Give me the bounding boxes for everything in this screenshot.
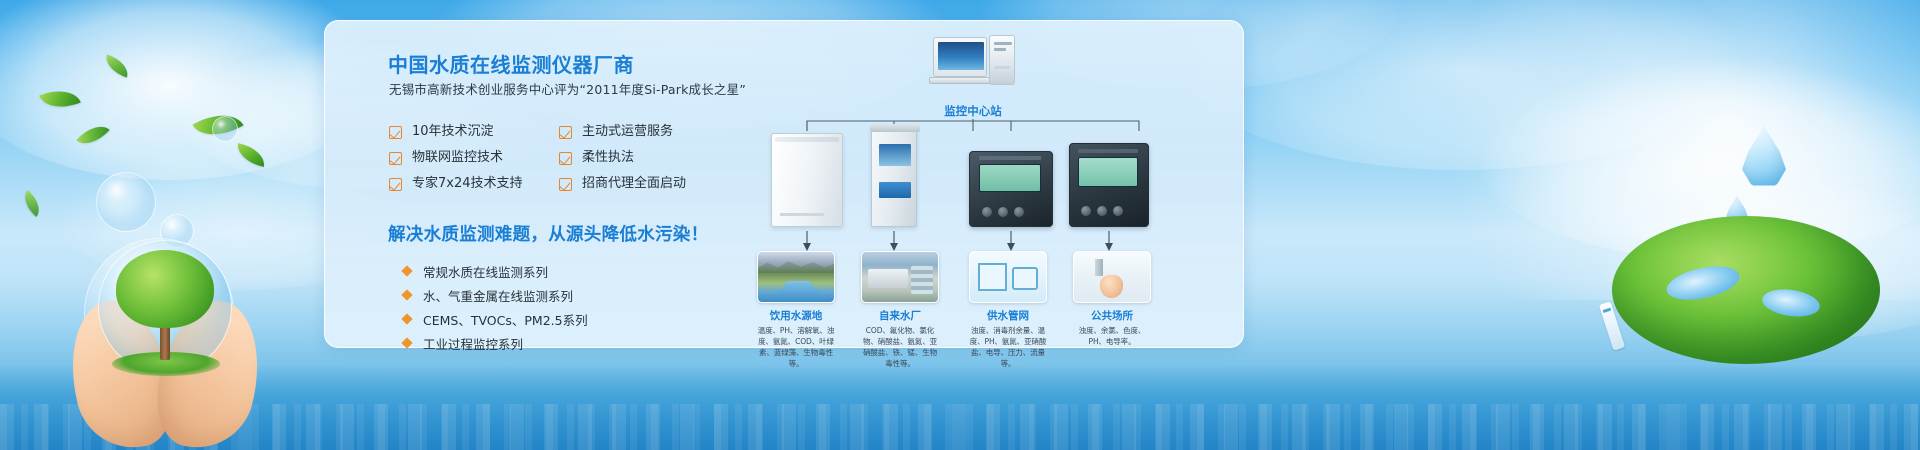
water-surface <box>0 364 1920 450</box>
list-item[interactable]: 常规水质在线监测系列 <box>403 259 588 283</box>
scene-parameters: COD、氟化物、氯化物、硝酸盐、氨氮、亚硝酸盐、铁、锰、生物毒性等。 <box>861 326 939 370</box>
scene-caption: 自来水厂 <box>861 308 939 323</box>
page-subtitle: 无锡市高新技术创业服务中心评为“2011年度Si-Park成长之星” <box>389 79 746 98</box>
list-item-label: 常规水质在线监测系列 <box>423 262 548 281</box>
scene-photo-reservoir <box>757 251 835 303</box>
feature-label: 10年技术沉淀 <box>412 119 494 145</box>
checkbox-checked-icon <box>389 152 402 165</box>
checkbox-checked-icon <box>559 178 572 191</box>
diamond-bullet-icon <box>401 337 412 348</box>
keyboard-icon <box>929 77 991 84</box>
checkbox-checked-icon <box>559 152 572 165</box>
list-item-label: 水、气重金属在线监测系列 <box>423 286 573 305</box>
list-item-label: CEMS、TVOCs、PM2.5系列 <box>423 310 588 329</box>
checkbox-checked-icon <box>389 178 402 191</box>
scene-caption: 供水管网 <box>969 308 1047 323</box>
tree-canopy <box>116 250 214 328</box>
scene-photo-waterworks <box>861 251 939 303</box>
list-item-label: 工业过程监控系列 <box>423 334 523 353</box>
scene-card[interactable]: 公共场所 浊度、余氯、色度、PH、电导率。 <box>1073 251 1151 348</box>
scene-parameters: 浊度、消毒剂余量、温度、PH、氨氮、亚硝酸盐、电导、压力、流量等。 <box>969 326 1047 370</box>
cabinet-analyzer-device <box>771 133 843 227</box>
pc-tower-icon <box>989 35 1015 85</box>
grass-globe <box>1612 216 1880 364</box>
scene-caption: 饮用水源地 <box>757 308 835 323</box>
cloud-1 <box>0 0 380 180</box>
monitor-screen <box>938 42 984 70</box>
checkbox-checked-icon <box>389 126 402 139</box>
list-item[interactable]: 工业过程监控系列 <box>403 331 588 355</box>
bubble-decoration <box>212 116 238 142</box>
scene-caption: 公共场所 <box>1073 308 1151 323</box>
scene-photo-public-place <box>1073 251 1151 303</box>
scene-card[interactable]: 供水管网 浊度、消毒剂余量、温度、PH、氨氮、亚硝酸盐、电导、压力、流量等。 <box>969 251 1047 370</box>
monitoring-center-computer-icon <box>933 35 1017 89</box>
water-droplet-icon <box>1742 126 1786 188</box>
feature-label: 物联网监控技术 <box>412 145 503 171</box>
feature-label: 主动式运营服务 <box>582 119 673 145</box>
diamond-bullet-icon <box>401 289 412 300</box>
bubble-decoration <box>96 172 156 232</box>
controller-device-2 <box>1069 143 1149 227</box>
page-title: 中国水质在线监测仪器厂商 <box>388 49 634 78</box>
checkbox-checked-icon <box>559 126 572 139</box>
controller-device-1 <box>969 151 1053 227</box>
leaf-icon <box>102 54 132 77</box>
hero-panel: 中国水质在线监测仪器厂商 无锡市高新技术创业服务中心评为“2011年度Si-Pa… <box>324 20 1244 348</box>
system-architecture-diagram: 监控中心站 <box>757 35 1227 345</box>
scene-card[interactable]: 饮用水源地 温度、PH、溶解氧、浊度、氨氮、COD、叶绿素、蓝绿藻、生物毒性等。 <box>757 251 835 370</box>
product-series-list: 常规水质在线监测系列 水、气重金属在线监测系列 CEMS、TVOCs、PM2.5… <box>403 259 588 355</box>
monitor-icon <box>933 37 987 77</box>
section-subheading: 解决水质监测难题，从源头降低水污染！ <box>388 221 708 246</box>
diamond-bullet-icon <box>401 265 412 276</box>
feature-label: 柔性执法 <box>582 145 634 171</box>
cloud-4 <box>1180 0 1740 170</box>
leaf-icon <box>18 190 46 217</box>
leaf-icon <box>234 143 267 167</box>
feature-label: 专家7x24技术支持 <box>412 171 523 197</box>
list-item[interactable]: 水、气重金属在线监测系列 <box>403 283 588 307</box>
diamond-bullet-icon <box>401 313 412 324</box>
green-earth-illustration <box>1612 216 1880 376</box>
monitoring-center-label: 监控中心站 <box>893 103 1053 119</box>
scene-card[interactable]: 自来水厂 COD、氟化物、氯化物、硝酸盐、氨氮、亚硝酸盐、铁、锰、生物毒性等。 <box>861 251 939 370</box>
scene-parameters: 浊度、余氯、色度、PH、电导率。 <box>1073 326 1151 348</box>
hands-holding-tree-illustration <box>72 236 258 450</box>
leaf-icon <box>39 82 81 116</box>
rack-analyzer-device <box>871 129 917 227</box>
scene-parameters: 温度、PH、溶解氧、浊度、氨氮、COD、叶绿素、蓝绿藻、生物毒性等。 <box>757 326 835 370</box>
leaf-icon <box>76 118 109 152</box>
device-row <box>757 131 1227 227</box>
feature-label: 招商代理全面启动 <box>582 171 686 197</box>
scene-photo-pipeline <box>969 251 1047 303</box>
list-item[interactable]: CEMS、TVOCs、PM2.5系列 <box>403 307 588 331</box>
